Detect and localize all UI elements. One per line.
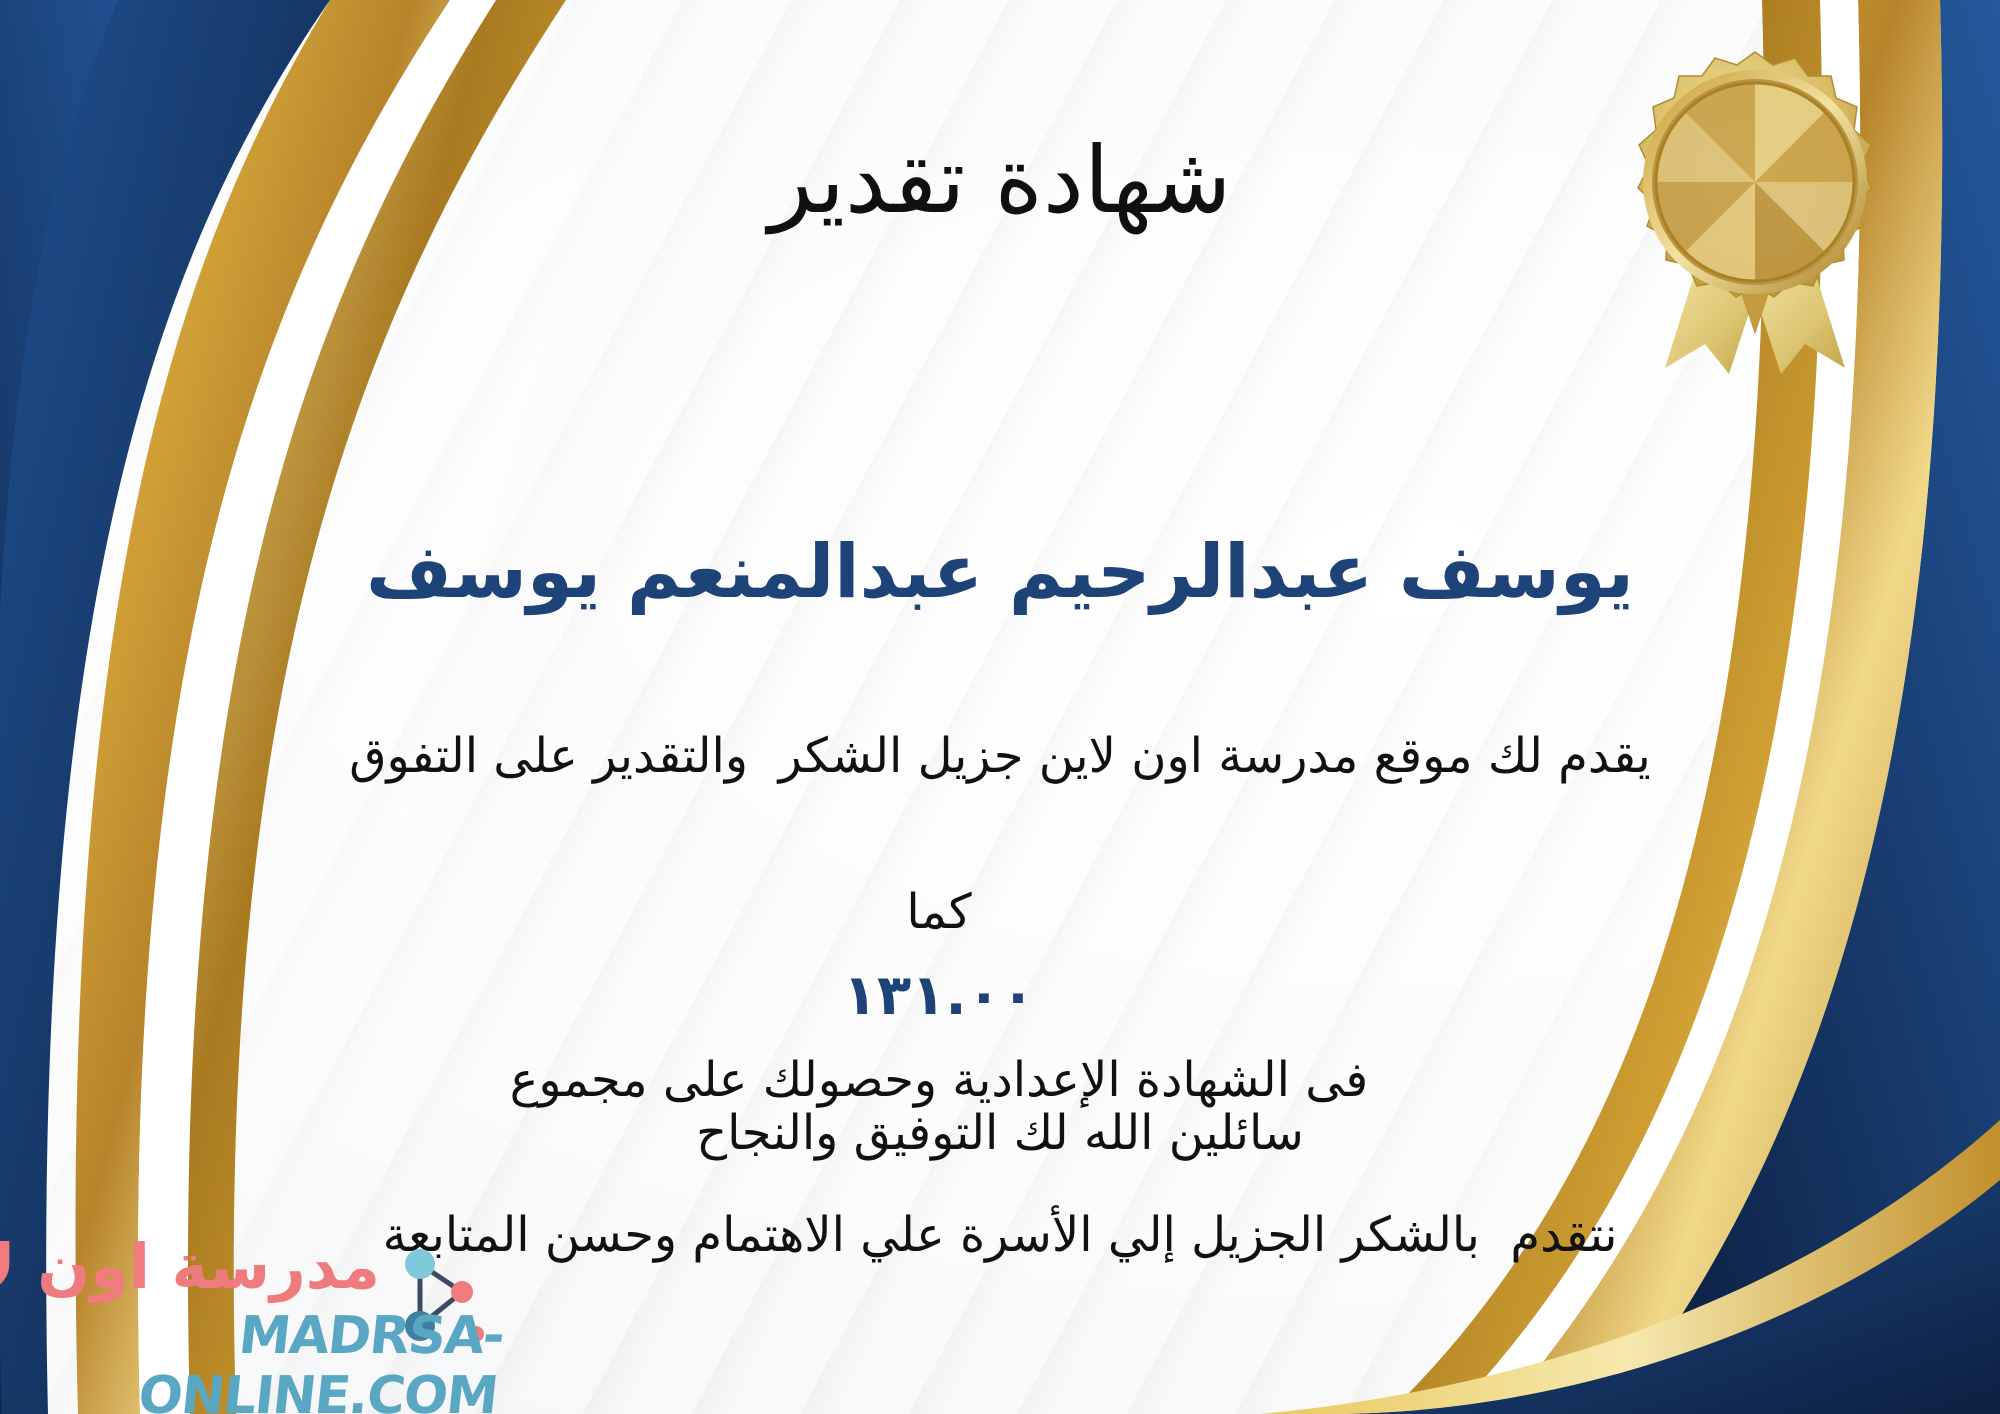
logo-arabic-text: مدرسة اون لاين [0,1230,380,1303]
body-line-2-suffix: كما [906,884,971,940]
body-line-1: يقدم لك موقع مدرسة اون لاين جزيل الشكر و… [180,718,1820,796]
recipient-name: يوسف عبدالرحيم عبدالمنعم يوسف [0,530,2000,615]
site-logo[interactable]: مدرسة اون لاين MADRSA-ONLINE.COM [30,1224,500,1384]
certificate-document: شهادة تقدير يوسف عبدالرحيم عبدالمنعم يوس… [0,0,2000,1414]
closing-line: سائلين الله لك التوفيق والنجاح [0,1105,2000,1161]
certificate-body: يقدم لك موقع مدرسة اون لاين جزيل الشكر و… [180,718,1820,1275]
certificate-content: شهادة تقدير يوسف عبدالرحيم عبدالمنعم يوس… [0,0,2000,1414]
body-line-2-prefix: فى الشهادة الإعدادية وحصولك على مجموع [510,1052,1368,1108]
certificate-title: شهادة تقدير [0,130,2000,231]
logo-url-text: MADRSA-ONLINE.COM [40,1306,507,1414]
score-value: ١٣١.٠٠ [843,963,1035,1028]
